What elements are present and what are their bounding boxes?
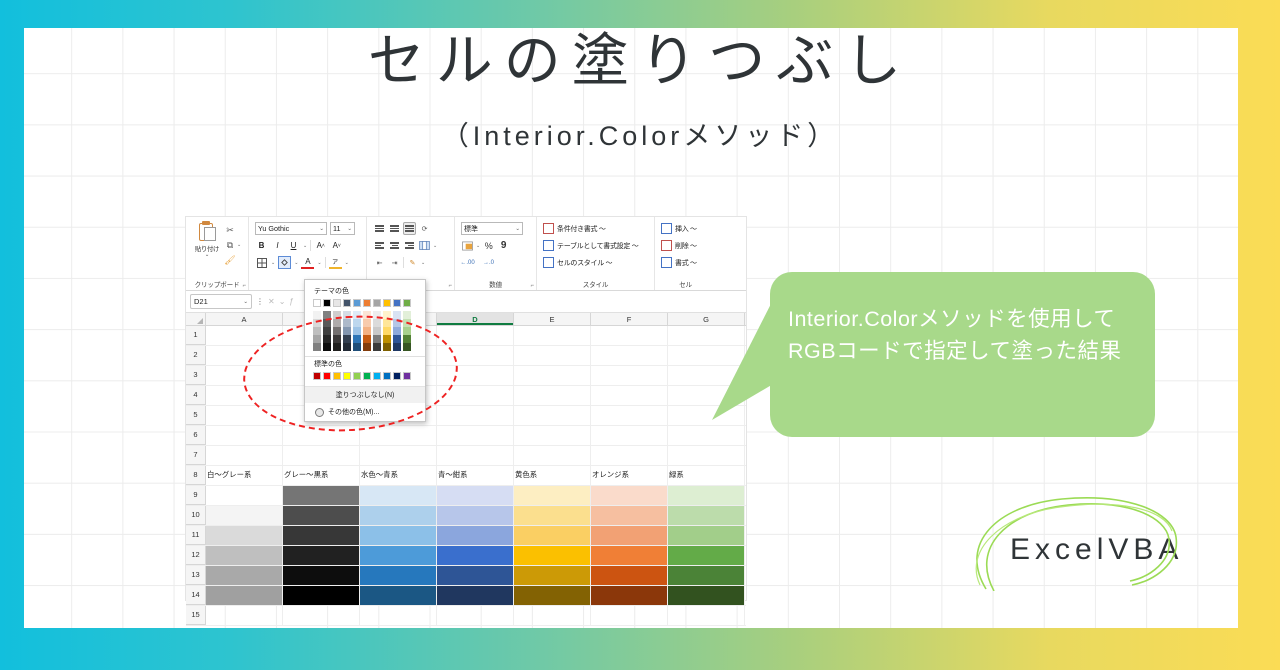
- cell-E15[interactable]: [514, 606, 591, 625]
- theme-tint-swatch[interactable]: [383, 327, 391, 335]
- decrease-font-size-button[interactable]: A˅: [330, 239, 343, 252]
- theme-tint-swatch[interactable]: [333, 343, 341, 351]
- title-highlight-marker: [579, 89, 720, 114]
- delete-icon: [661, 240, 672, 251]
- swatch-cell-C11[interactable]: [360, 526, 437, 545]
- worksheet-row: 9: [186, 486, 746, 506]
- theme-tint-swatch[interactable]: [363, 335, 371, 343]
- cell-C7[interactable]: [360, 446, 437, 465]
- standard-color-swatches[interactable]: [305, 372, 425, 380]
- phonetic-guide-button[interactable]: ア: [329, 256, 342, 269]
- row-header-2[interactable]: 2: [186, 346, 206, 365]
- theme-color-swatch[interactable]: [373, 299, 381, 307]
- cell-row: [206, 406, 746, 425]
- swatch-cell-B12[interactable]: [283, 546, 360, 565]
- cell-E4[interactable]: [514, 386, 591, 405]
- cell-D3[interactable]: [437, 366, 514, 385]
- theme-tint-column: [353, 311, 361, 351]
- theme-tint-swatch[interactable]: [373, 311, 381, 319]
- cell-G15[interactable]: [668, 606, 745, 625]
- theme-tint-swatch[interactable]: [343, 311, 351, 319]
- theme-tint-swatch[interactable]: [343, 343, 351, 351]
- chevron-down-icon[interactable]: ⌄: [303, 243, 307, 249]
- theme-tint-swatch[interactable]: [323, 343, 331, 351]
- swatch-cell-C9[interactable]: [360, 486, 437, 505]
- swatch-cell-A12[interactable]: [206, 546, 283, 565]
- swatch-cell-E10[interactable]: [514, 506, 591, 525]
- cell-A2[interactable]: [206, 346, 283, 365]
- swatch-cell-B14[interactable]: [283, 586, 360, 605]
- decrease-decimal-button[interactable]: →.0: [482, 256, 495, 269]
- cell-D2[interactable]: [437, 346, 514, 365]
- standard-color-swatch[interactable]: [373, 372, 381, 380]
- cell-row: [206, 486, 746, 505]
- theme-tint-swatch[interactable]: [343, 319, 351, 327]
- paste-icon: [197, 221, 218, 243]
- format-as-table-button[interactable]: テーブルとして書式設定 ～: [543, 238, 648, 253]
- theme-tint-swatch[interactable]: [363, 311, 371, 319]
- standard-color-swatch[interactable]: [353, 372, 361, 380]
- row-header-5[interactable]: 5: [186, 406, 206, 425]
- paintbrush-icon: 🖌: [224, 254, 236, 266]
- cell-row: [206, 566, 746, 585]
- cell-D15[interactable]: [437, 606, 514, 625]
- theme-color-swatch[interactable]: [343, 299, 351, 307]
- theme-tint-swatch[interactable]: [393, 311, 401, 319]
- swatch-header-F[interactable]: オレンジ系: [591, 466, 668, 485]
- cell-F5[interactable]: [591, 406, 668, 425]
- paste-button[interactable]: 貼り付け ⌄: [192, 221, 222, 266]
- cell-D5[interactable]: [437, 406, 514, 425]
- theme-color-swatch[interactable]: [403, 299, 411, 307]
- merge-center-icon: [419, 241, 430, 250]
- theme-color-swatches[interactable]: [305, 299, 425, 307]
- callout-text: Interior.Colorメソッドを使用してRGBコードで指定して塗った結果: [788, 304, 1148, 368]
- align-left-button[interactable]: [373, 239, 386, 252]
- theme-tint-swatch[interactable]: [353, 327, 361, 335]
- swatch-cell-A14[interactable]: [206, 586, 283, 605]
- cell-A3[interactable]: [206, 366, 283, 385]
- cell-row: [206, 326, 746, 345]
- insert-function-icon[interactable]: ƒ: [289, 297, 293, 306]
- format-cells-button[interactable]: 書式 ～: [661, 255, 710, 270]
- title-block: セルの塗りつぶし （Interior.Colorメソッド）: [0, 32, 1280, 153]
- column-header-D[interactable]: D: [437, 313, 514, 325]
- standard-color-swatch[interactable]: [313, 372, 321, 380]
- theme-tint-swatch[interactable]: [333, 335, 341, 343]
- swatch-cell-D12[interactable]: [437, 546, 514, 565]
- number-format-select[interactable]: 標準 ⌄: [461, 222, 523, 235]
- theme-tint-swatch[interactable]: [403, 327, 411, 335]
- swatch-cell-D13[interactable]: [437, 566, 514, 585]
- theme-tint-swatch[interactable]: [343, 327, 351, 335]
- worksheet-row: 7: [186, 446, 746, 466]
- underline-button[interactable]: U: [287, 239, 300, 252]
- increase-decimal-button[interactable]: ←.00: [461, 256, 474, 269]
- cell-B15[interactable]: [283, 606, 360, 625]
- theme-tint-swatch[interactable]: [403, 319, 411, 327]
- conditional-formatting-label: 条件付き書式 ～: [557, 224, 606, 234]
- decrease-indent-icon: ⇤: [377, 259, 383, 267]
- font-color-button[interactable]: A: [301, 256, 314, 269]
- swatch-cell-D14[interactable]: [437, 586, 514, 605]
- swatch-cell-F11[interactable]: [591, 526, 668, 545]
- standard-colors-label: 標準の色: [305, 357, 425, 372]
- theme-tint-swatch[interactable]: [323, 311, 331, 319]
- theme-tint-swatch[interactable]: [373, 319, 381, 327]
- orientation-button[interactable]: ⟳: [418, 222, 431, 235]
- conditional-formatting-button[interactable]: 条件付き書式 ～: [543, 221, 648, 236]
- swatch-cell-E13[interactable]: [514, 566, 591, 585]
- theme-tint-swatch[interactable]: [393, 327, 401, 335]
- worksheet-row: 6: [186, 426, 746, 446]
- row-header-15[interactable]: 15: [186, 606, 206, 625]
- chevron-down-icon[interactable]: ⌄: [433, 243, 437, 249]
- cell-F2[interactable]: [591, 346, 668, 365]
- cell-F6[interactable]: [591, 426, 668, 445]
- paint-bucket-icon: [280, 258, 289, 267]
- cell-A15[interactable]: [206, 606, 283, 625]
- swatch-cell-G10[interactable]: [668, 506, 745, 525]
- cell-E2[interactable]: [514, 346, 591, 365]
- bold-button[interactable]: B: [255, 239, 268, 252]
- cell-D4[interactable]: [437, 386, 514, 405]
- cut-button[interactable]: ✂: [224, 223, 241, 236]
- theme-tint-swatch[interactable]: [373, 327, 381, 335]
- group-label-number: 数値: [455, 279, 536, 289]
- theme-tint-swatch[interactable]: [333, 311, 341, 319]
- theme-tint-swatch[interactable]: [363, 327, 371, 335]
- swatch-cell-E11[interactable]: [514, 526, 591, 545]
- theme-color-swatch[interactable]: [383, 299, 391, 307]
- cell-F4[interactable]: [591, 386, 668, 405]
- cell-C6[interactable]: [360, 426, 437, 445]
- swatch-cell-B13[interactable]: [283, 566, 360, 585]
- cell-F15[interactable]: [591, 606, 668, 625]
- fill-color-dropdown-arrow[interactable]: ⌄: [294, 260, 298, 266]
- swatch-cell-C14[interactable]: [360, 586, 437, 605]
- theme-color-swatch[interactable]: [393, 299, 401, 307]
- swatch-cell-D11[interactable]: [437, 526, 514, 545]
- swatch-cell-F14[interactable]: [591, 586, 668, 605]
- chevron-down-icon: ⌄: [243, 299, 248, 305]
- row-header-14[interactable]: 14: [186, 586, 206, 605]
- theme-tint-swatch[interactable]: [363, 343, 371, 351]
- currency-button[interactable]: [461, 239, 474, 252]
- swatch-header-B[interactable]: グレー～黒系: [283, 466, 360, 485]
- worksheet-row: 5: [186, 406, 746, 426]
- swatch-cell-A10[interactable]: [206, 506, 283, 525]
- align-bottom-button[interactable]: [403, 222, 416, 235]
- standard-color-swatch[interactable]: [333, 372, 341, 380]
- swatch-cell-G13[interactable]: [668, 566, 745, 585]
- theme-tint-column: [333, 311, 341, 351]
- cell-G7[interactable]: [668, 446, 745, 465]
- swatch-cell-C12[interactable]: [360, 546, 437, 565]
- swatch-cell-B11[interactable]: [283, 526, 360, 545]
- cell-styles-button[interactable]: セルのスタイル ～: [543, 255, 648, 270]
- delete-cells-button[interactable]: 削除 ～: [661, 238, 710, 253]
- swatch-header-D[interactable]: 青～紺系: [437, 466, 514, 485]
- no-fill-menu-item[interactable]: 塗りつぶしなし(N): [305, 386, 425, 403]
- cell-F1[interactable]: [591, 326, 668, 345]
- chevron-down-icon[interactable]: ⌄: [345, 260, 349, 266]
- chevron-down-icon: ⌄: [205, 253, 210, 258]
- chevron-down-icon[interactable]: ⌄: [271, 260, 275, 266]
- chevron-down-icon: ⌄: [237, 242, 241, 248]
- column-header-A[interactable]: A: [206, 313, 283, 325]
- percent-style-button[interactable]: %: [482, 239, 495, 252]
- cell-row: [206, 606, 746, 625]
- worksheet-row: 2: [186, 346, 746, 366]
- theme-colors-label: テーマの色: [305, 284, 425, 299]
- dialog-launcher-icon[interactable]: ⌐: [530, 283, 534, 289]
- swatch-cell-E12[interactable]: [514, 546, 591, 565]
- cell-A6[interactable]: [206, 426, 283, 445]
- align-right-button[interactable]: [403, 239, 416, 252]
- cell-C15[interactable]: [360, 606, 437, 625]
- theme-tint-swatch[interactable]: [313, 319, 321, 327]
- swatch-cell-E9[interactable]: [514, 486, 591, 505]
- cell-E1[interactable]: [514, 326, 591, 345]
- theme-tint-swatch[interactable]: [313, 327, 321, 335]
- theme-tint-swatch[interactable]: [333, 327, 341, 335]
- cell-A7[interactable]: [206, 446, 283, 465]
- row-header-4[interactable]: 4: [186, 386, 206, 405]
- select-all-corner[interactable]: [186, 313, 206, 325]
- theme-tint-column: [403, 311, 411, 351]
- swatch-cell-F9[interactable]: [591, 486, 668, 505]
- row-header-11[interactable]: 11: [186, 526, 206, 545]
- theme-tint-swatch[interactable]: [313, 311, 321, 319]
- theme-color-swatch[interactable]: [333, 299, 341, 307]
- swatch-cell-G14[interactable]: [668, 586, 745, 605]
- font-name-input[interactable]: Yu Gothic ⌄: [255, 222, 327, 235]
- cell-row: [206, 526, 746, 545]
- theme-tint-swatch[interactable]: [393, 343, 401, 351]
- theme-tint-swatch[interactable]: [373, 343, 381, 351]
- cell-B6[interactable]: [283, 426, 360, 445]
- row-header-10[interactable]: 10: [186, 506, 206, 525]
- decrease-decimal-icon: →.0: [483, 260, 494, 266]
- theme-tint-swatch[interactable]: [393, 319, 401, 327]
- cell-row: [206, 426, 746, 445]
- swatch-cell-F12[interactable]: [591, 546, 668, 565]
- theme-tint-swatch[interactable]: [333, 319, 341, 327]
- cell-F3[interactable]: [591, 366, 668, 385]
- theme-color-swatch[interactable]: [363, 299, 371, 307]
- cell-E6[interactable]: [514, 426, 591, 445]
- column-header-E[interactable]: E: [514, 313, 591, 325]
- theme-tint-swatch[interactable]: [383, 343, 391, 351]
- format-as-table-label: テーブルとして書式設定 ～: [557, 241, 638, 251]
- theme-tint-column: [343, 311, 351, 351]
- copy-button[interactable]: ⧉⌄: [224, 238, 241, 251]
- theme-tint-swatch[interactable]: [393, 335, 401, 343]
- format-label: 書式 ～: [675, 258, 697, 268]
- cell-B7[interactable]: [283, 446, 360, 465]
- theme-color-swatch[interactable]: [353, 299, 361, 307]
- theme-tint-swatch[interactable]: [353, 335, 361, 343]
- swatch-cell-D9[interactable]: [437, 486, 514, 505]
- borders-button[interactable]: [255, 256, 268, 269]
- swatch-cell-A11[interactable]: [206, 526, 283, 545]
- increase-font-size-button[interactable]: A˄: [314, 239, 327, 252]
- theme-tint-swatch[interactable]: [383, 335, 391, 343]
- swatch-cell-G12[interactable]: [668, 546, 745, 565]
- theme-tint-column: [373, 311, 381, 351]
- brand-logo: ExcelVBA: [1010, 533, 1183, 567]
- border-grid-icon: [257, 258, 267, 268]
- column-header-F[interactable]: F: [591, 313, 668, 325]
- format-icon: [661, 257, 672, 268]
- cell-A4[interactable]: [206, 386, 283, 405]
- swatch-header-E[interactable]: 黄色系: [514, 466, 591, 485]
- chevron-down-icon[interactable]: ⌄: [317, 260, 321, 266]
- theme-tint-swatch[interactable]: [383, 319, 391, 327]
- ribbon-group-cells: 挿入 ～ 削除 ～ 書式 ～ セル: [654, 217, 716, 290]
- theme-tint-swatch[interactable]: [353, 343, 361, 351]
- worksheet-row: 11: [186, 526, 746, 546]
- swatch-header-C[interactable]: 水色～青系: [360, 466, 437, 485]
- standard-color-swatch[interactable]: [363, 372, 371, 380]
- cell-D1[interactable]: [437, 326, 514, 345]
- theme-tint-swatch[interactable]: [403, 311, 411, 319]
- align-top-button[interactable]: [373, 222, 386, 235]
- number-format-value: 標準: [464, 224, 478, 234]
- swatch-cell-G9[interactable]: [668, 486, 745, 505]
- swatch-cell-C10[interactable]: [360, 506, 437, 525]
- cell-A5[interactable]: [206, 406, 283, 425]
- cell-row: [206, 446, 746, 465]
- swatch-header-A[interactable]: 白～グレー系: [206, 466, 283, 485]
- standard-color-swatch[interactable]: [383, 372, 391, 380]
- worksheet-row: 1: [186, 326, 746, 346]
- more-colors-label: その他の色(M)...: [328, 407, 379, 417]
- cell-E3[interactable]: [514, 366, 591, 385]
- theme-tint-swatch[interactable]: [403, 343, 411, 351]
- row-header-3[interactable]: 3: [186, 366, 206, 385]
- poster-canvas: セルの塗りつぶし （Interior.Colorメソッド） 貼り付け ⌄: [0, 0, 1280, 670]
- cell-row: [206, 366, 746, 385]
- font-size-input[interactable]: 11 ⌄: [330, 222, 355, 235]
- theme-color-swatch[interactable]: [313, 299, 321, 307]
- chevron-down-icon: ⌄: [347, 226, 352, 232]
- page-title: セルの塗りつぶし: [368, 32, 913, 92]
- fill-color-dropdown[interactable]: テーマの色 標準の色 塗りつぶしなし(N) その他の色(M)...: [304, 279, 426, 422]
- format-painter-button[interactable]: 🖌: [224, 253, 241, 266]
- theme-tint-swatches[interactable]: [305, 307, 425, 351]
- swatch-cell-F10[interactable]: [591, 506, 668, 525]
- row-header-8[interactable]: 8: [186, 466, 206, 485]
- swatch-cell-C13[interactable]: [360, 566, 437, 585]
- merge-cells-button[interactable]: [418, 239, 431, 252]
- delete-label: 削除 ～: [675, 241, 697, 251]
- name-box[interactable]: D21 ⌄: [190, 294, 252, 309]
- align-middle-button[interactable]: [388, 222, 401, 235]
- theme-tint-swatch[interactable]: [343, 335, 351, 343]
- row-header-7[interactable]: 7: [186, 446, 206, 465]
- standard-color-swatch[interactable]: [393, 372, 401, 380]
- theme-tint-swatch[interactable]: [353, 319, 361, 327]
- italic-button[interactable]: I: [271, 239, 284, 252]
- cell-A1[interactable]: [206, 326, 283, 345]
- swatch-cell-D10[interactable]: [437, 506, 514, 525]
- cell-row: [206, 346, 746, 365]
- dialog-launcher-icon[interactable]: ⌐: [242, 283, 246, 289]
- insert-cells-button[interactable]: 挿入 ～: [661, 221, 710, 236]
- worksheet-row: 15: [186, 606, 746, 626]
- theme-tint-swatch[interactable]: [323, 319, 331, 327]
- standard-color-swatch[interactable]: [403, 372, 411, 380]
- theme-tint-swatch[interactable]: [403, 335, 411, 343]
- worksheet-row: 3: [186, 366, 746, 386]
- cancel-icon[interactable]: ✕: [268, 297, 275, 306]
- ribbon: 貼り付け ⌄ ✂ ⧉⌄ 🖌 クリップボード ⌐ Yu Gothic: [186, 217, 746, 291]
- theme-tint-swatch[interactable]: [323, 335, 331, 343]
- swatch-cell-F13[interactable]: [591, 566, 668, 585]
- theme-tint-swatch[interactable]: [373, 335, 381, 343]
- enter-icon[interactable]: ⌄: [279, 297, 286, 306]
- more-colors-menu-item[interactable]: その他の色(M)...: [305, 403, 425, 421]
- worksheet-row: 4: [186, 386, 746, 406]
- wrap-text-button[interactable]: ✎: [406, 256, 419, 269]
- comma-style-button[interactable]: 9: [497, 239, 510, 252]
- row-header-1[interactable]: 1: [186, 326, 206, 345]
- palette-icon: [315, 408, 324, 417]
- theme-tint-swatch[interactable]: [323, 327, 331, 335]
- standard-color-swatch[interactable]: [343, 372, 351, 380]
- row-header-13[interactable]: 13: [186, 566, 206, 585]
- dialog-launcher-icon[interactable]: ⌐: [448, 283, 452, 289]
- chevron-down-icon[interactable]: ⌄: [421, 260, 425, 266]
- theme-color-swatch[interactable]: [323, 299, 331, 307]
- cell-F7[interactable]: [591, 446, 668, 465]
- theme-tint-swatch[interactable]: [313, 335, 321, 343]
- chevron-down-icon[interactable]: ⌄: [476, 243, 480, 249]
- page-subtitle: （Interior.Colorメソッド）: [0, 114, 1280, 153]
- swatch-cell-A13[interactable]: [206, 566, 283, 585]
- row-header-9[interactable]: 9: [186, 486, 206, 505]
- decrease-indent-button[interactable]: ⇤: [373, 256, 386, 269]
- swatch-cell-B10[interactable]: [283, 506, 360, 525]
- standard-color-swatch[interactable]: [323, 372, 331, 380]
- swatch-cell-G11[interactable]: [668, 526, 745, 545]
- fill-color-button[interactable]: [278, 256, 291, 269]
- cell-D7[interactable]: [437, 446, 514, 465]
- theme-tint-swatch[interactable]: [353, 311, 361, 319]
- excel-window: 貼り付け ⌄ ✂ ⧉⌄ 🖌 クリップボード ⌐ Yu Gothic: [186, 217, 746, 600]
- swatch-cell-A9[interactable]: [206, 486, 283, 505]
- theme-tint-swatch[interactable]: [313, 343, 321, 351]
- worksheet-row: 14: [186, 586, 746, 606]
- theme-tint-swatch[interactable]: [383, 311, 391, 319]
- swatch-cell-E14[interactable]: [514, 586, 591, 605]
- group-label-styles: スタイル: [537, 279, 654, 289]
- row-header-12[interactable]: 12: [186, 546, 206, 565]
- cell-D6[interactable]: [437, 426, 514, 445]
- more-options-icon[interactable]: ⋮: [256, 297, 264, 306]
- increase-indent-button[interactable]: ⇥: [388, 256, 401, 269]
- cell-E7[interactable]: [514, 446, 591, 465]
- name-box-value: D21: [194, 297, 208, 306]
- align-center-button[interactable]: [388, 239, 401, 252]
- swatch-cell-B9[interactable]: [283, 486, 360, 505]
- row-header-6[interactable]: 6: [186, 426, 206, 445]
- cell-E5[interactable]: [514, 406, 591, 425]
- swatch-header-G[interactable]: 緑系: [668, 466, 745, 485]
- theme-tint-swatch[interactable]: [363, 319, 371, 327]
